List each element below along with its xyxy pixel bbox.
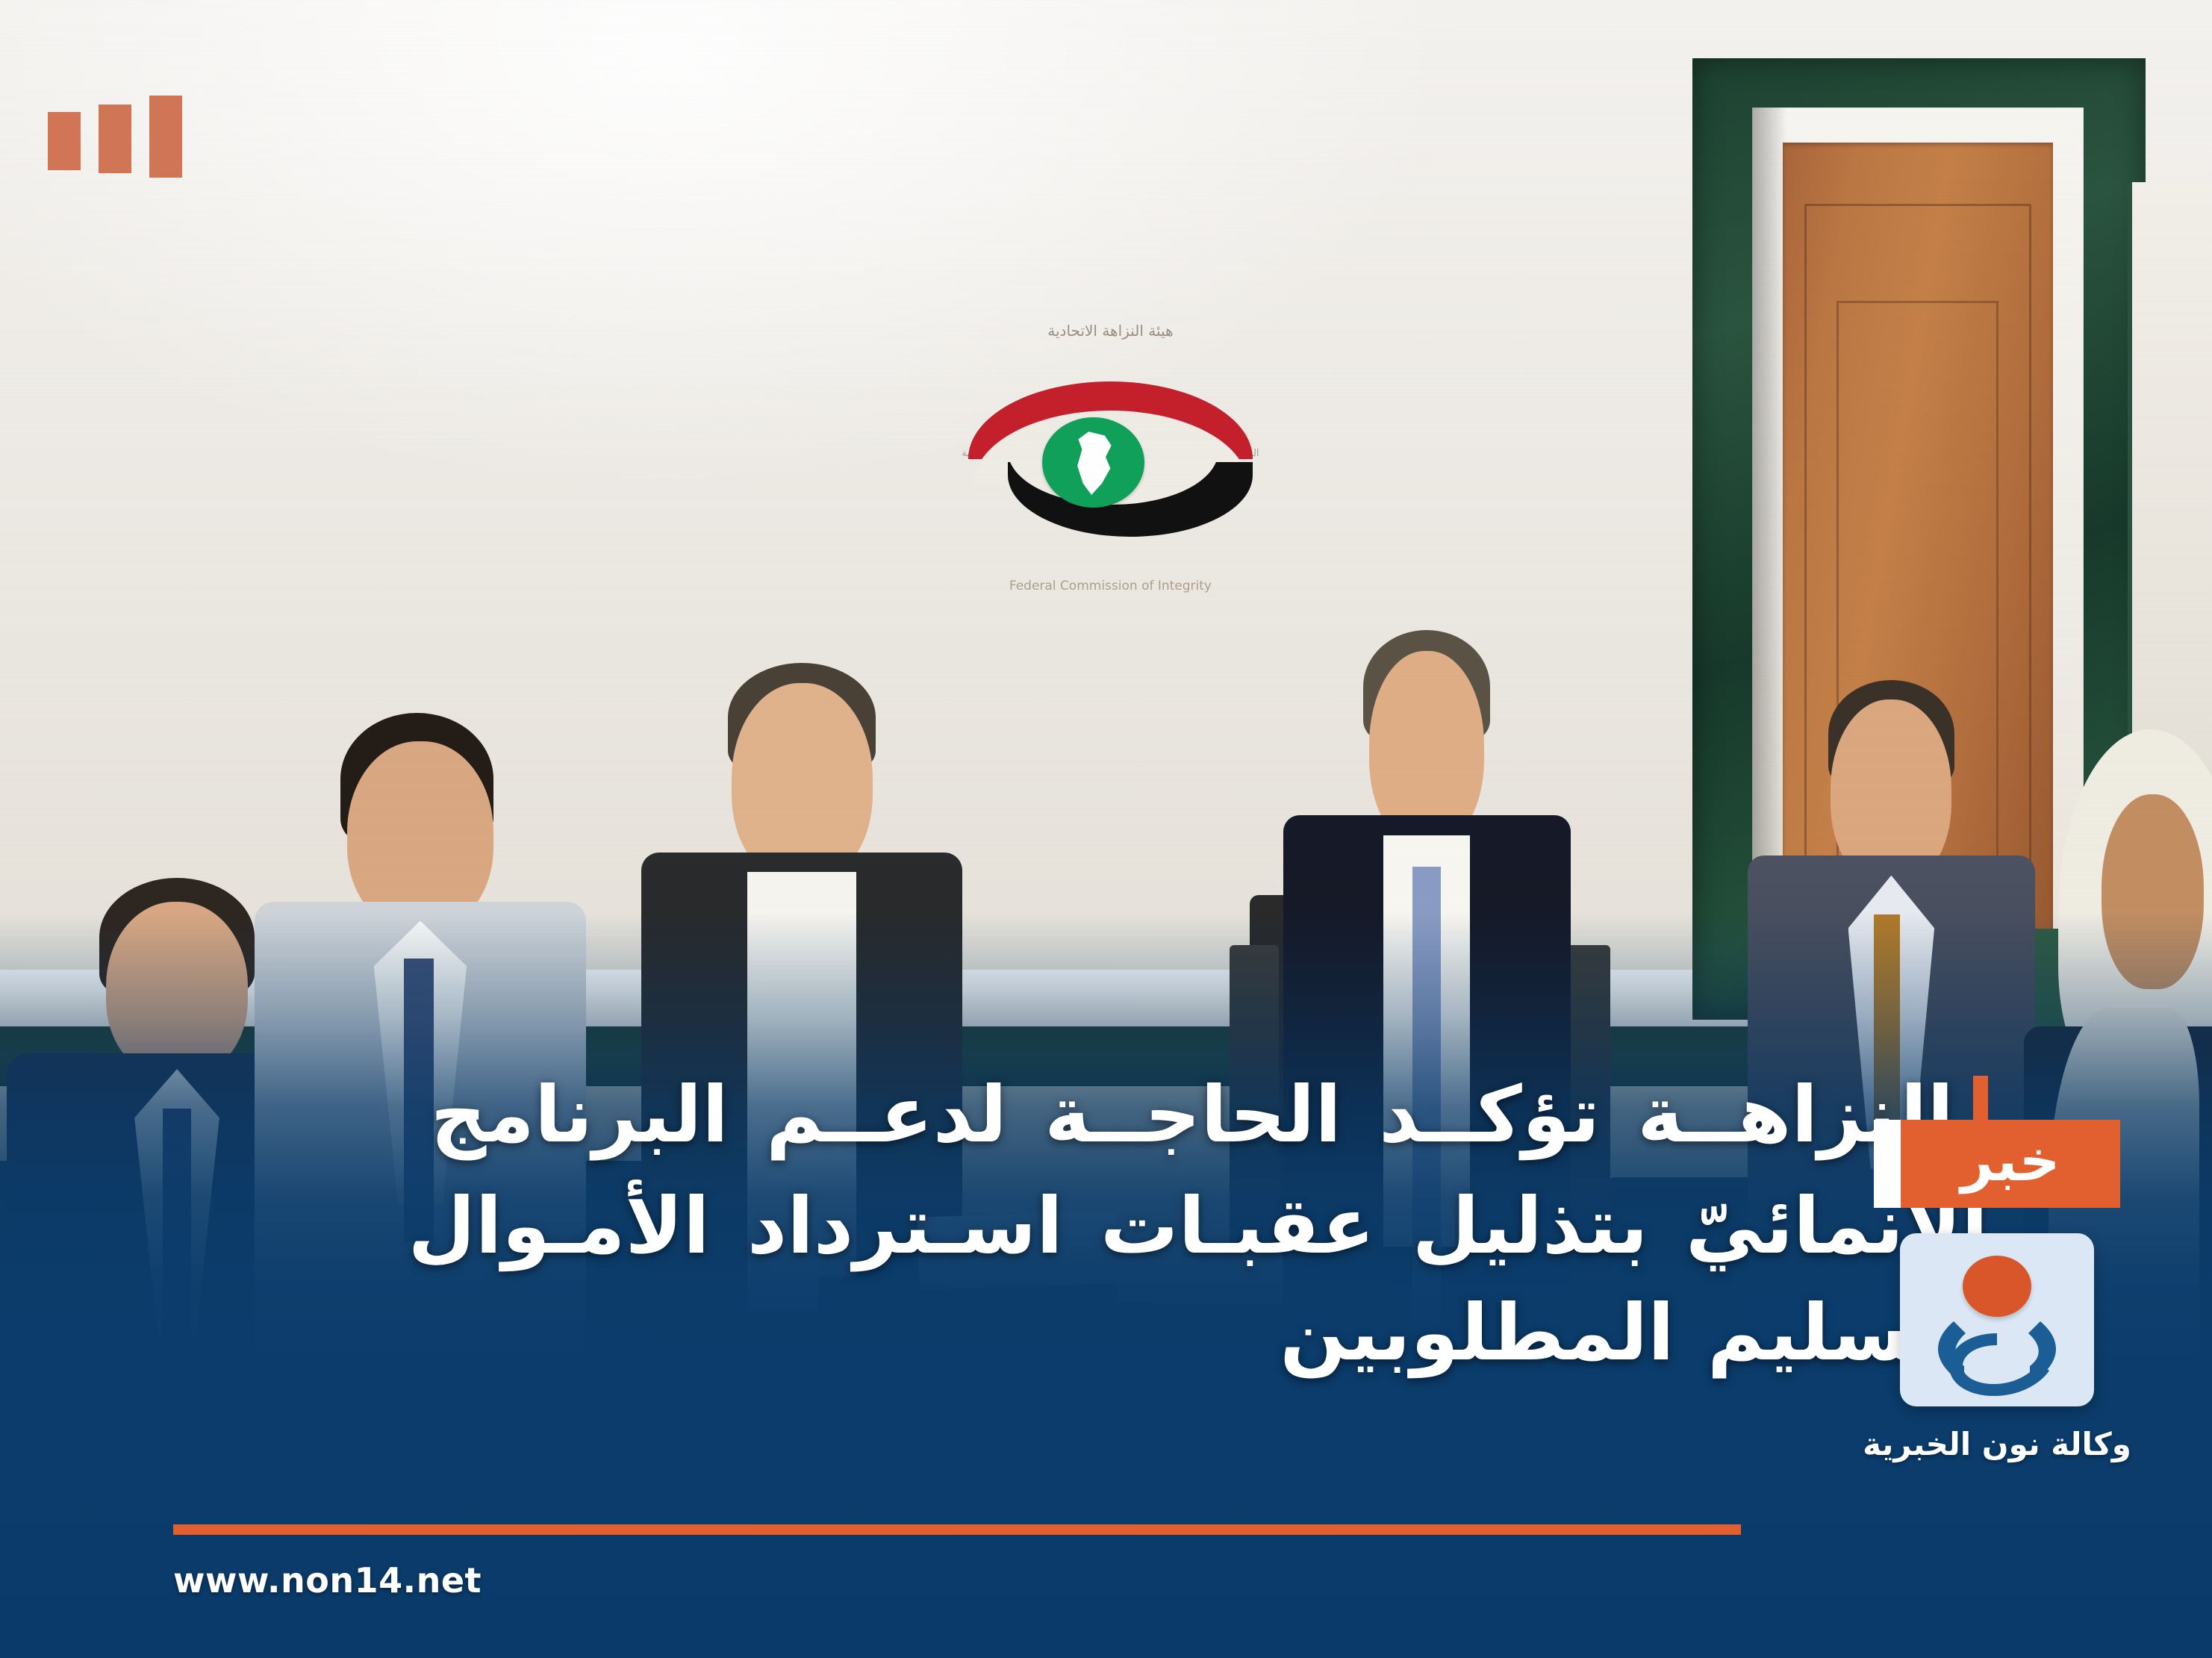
bar-2 [99, 105, 131, 173]
bar-1 [149, 96, 182, 178]
website-url[interactable]: www.non14.net [173, 1560, 482, 1601]
news-card: هيئة النزاهة الاتحادية جمهورية العراق Fe… [0, 0, 2212, 1658]
headline-line-1: النزاهــة تؤكــد الحاجــة لدعــم البرنام… [431, 1068, 1954, 1162]
emblem-text-top: هيئة النزاهة الاتحادية [1047, 322, 1173, 340]
news-badge-label: خبر [1901, 1120, 2120, 1208]
news-badge: خبر [1874, 1120, 2120, 1208]
logo-noon-curve-icon [1900, 1233, 2094, 1406]
headline-line-2: الإنمائيّ بتذليل عقبـات اسـترداد الأمـوا… [172, 1179, 1988, 1274]
headline: النزاهــة تؤكــد الحاجــة لدعــم البرنام… [172, 1068, 1988, 1392]
brand-block: خبر وكالة نون الخبرية [1848, 1120, 2146, 1462]
three-orange-bars-icon [48, 96, 182, 178]
noon-letter-logo-icon [1900, 1233, 2094, 1406]
footer-orange-rule [173, 1524, 1741, 1535]
emblem-text-bottom: Federal Commission of Integrity [1009, 579, 1212, 593]
agency-name: وكالة نون الخبرية [1863, 1426, 2131, 1462]
bar-3 [48, 112, 81, 170]
federal-commission-of-integrity-emblem: هيئة النزاهة الاتحادية جمهورية العراق Fe… [956, 322, 1265, 590]
headline-line-3: وتسليم المطلوبين [172, 1285, 1988, 1380]
emblem-iris [1042, 417, 1144, 508]
iraq-map-icon [1071, 431, 1118, 495]
headline-row-1: النزاهــة تؤكــد الحاجــة لدعــم البرنام… [172, 1068, 1988, 1162]
news-badge-white-tab [1874, 1120, 1901, 1208]
emblem-eye-icon [968, 375, 1253, 537]
